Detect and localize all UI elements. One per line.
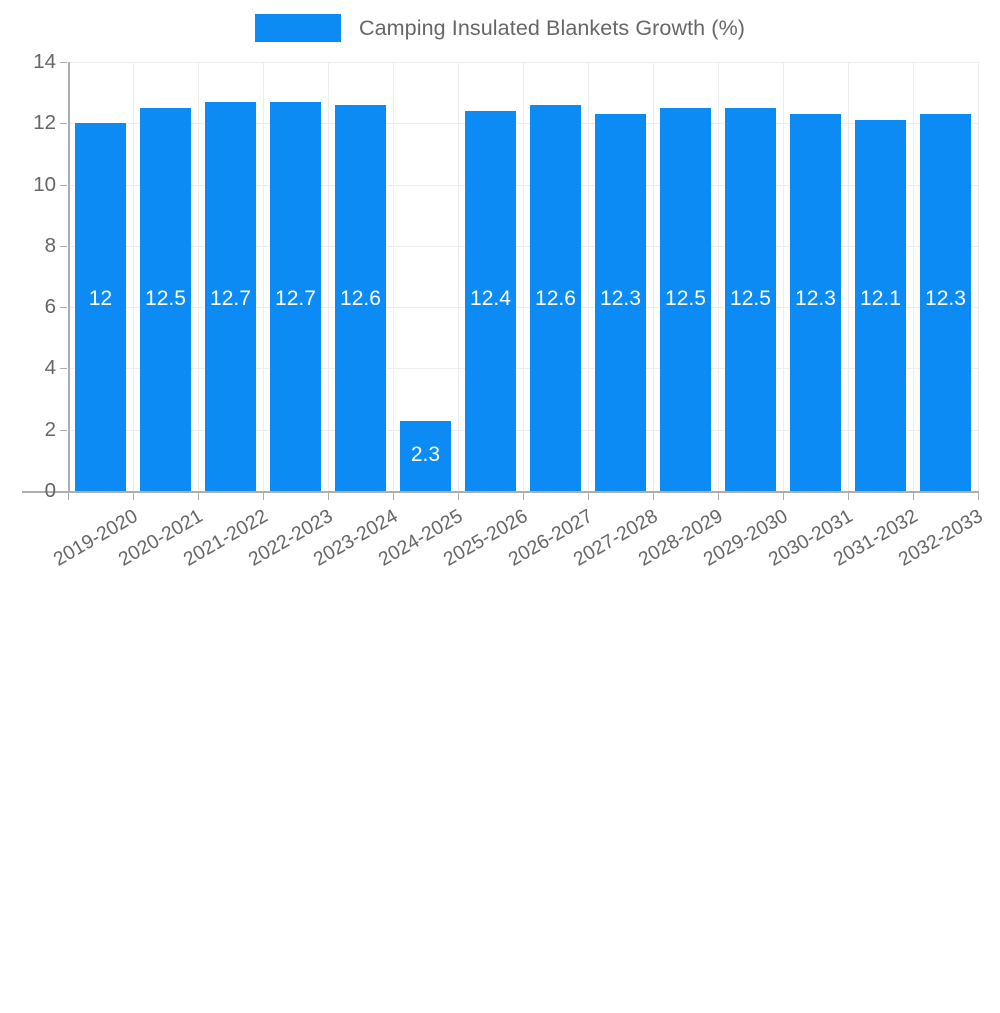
- bar-value-label: 12.3: [790, 287, 841, 311]
- x-axis-tick-mark: [328, 491, 329, 500]
- x-axis-tick-mark: [848, 491, 849, 500]
- x-axis-tick-mark: [393, 491, 394, 500]
- bar-value-label: 12.1: [855, 287, 906, 311]
- bar-value-label: 12.4: [465, 287, 516, 311]
- legend-item-series[interactable]: Camping Insulated Blankets Growth (%): [255, 14, 745, 42]
- x-axis-tick-mark: [913, 491, 914, 500]
- x-axis-tick-mark: [198, 491, 199, 500]
- y-axis-tick-mark: [60, 430, 67, 431]
- x-axis-tick-mark: [588, 491, 589, 500]
- y-axis-tick-mark: [60, 307, 67, 308]
- legend-color-swatch: [255, 14, 341, 42]
- y-axis-tick-label: 12: [16, 111, 56, 135]
- y-axis-tick-mark: [60, 368, 67, 369]
- bar-chart: Camping Insulated Blankets Growth (%) 02…: [0, 0, 1000, 600]
- bars-container: 1212.512.712.712.62.312.412.612.312.512.…: [68, 62, 978, 491]
- bar-value-label: 12.7: [205, 287, 256, 311]
- y-axis-tick-mark: [60, 185, 67, 186]
- y-axis-tick-label: 4: [16, 356, 56, 380]
- x-axis-tick-mark: [133, 491, 134, 500]
- y-axis-tick-mark: [60, 62, 67, 63]
- bar-value-label: 12.6: [530, 287, 581, 311]
- x-axis-tick-mark: [68, 491, 69, 500]
- y-axis-tick-label: 8: [16, 234, 56, 258]
- bar-value-label: 12.7: [270, 287, 321, 311]
- x-axis-tick-mark: [718, 491, 719, 500]
- x-axis-tick-mark: [783, 491, 784, 500]
- y-axis-tick-label: 6: [16, 295, 56, 319]
- bar-value-label: 12: [75, 287, 126, 311]
- bar-value-label: 2.3: [400, 443, 451, 467]
- x-axis-tick-mark: [523, 491, 524, 500]
- x-axis-tick-mark: [978, 491, 979, 500]
- y-axis-tick-label: 2: [16, 418, 56, 442]
- gridline-vertical: [978, 62, 979, 491]
- chart-legend: Camping Insulated Blankets Growth (%): [0, 0, 1000, 56]
- bar-value-label: 12.3: [920, 287, 971, 311]
- y-axis-tick-mark: [60, 123, 67, 124]
- x-axis-tick-mark: [458, 491, 459, 500]
- bar-value-label: 12.5: [660, 287, 711, 311]
- legend-label: Camping Insulated Blankets Growth (%): [359, 16, 745, 41]
- y-axis-tick-label: 10: [16, 173, 56, 197]
- bar-value-label: 12.3: [595, 287, 646, 311]
- bar-value-label: 12.5: [725, 287, 776, 311]
- x-axis-line: [22, 491, 978, 493]
- bar-value-label: 12.5: [140, 287, 191, 311]
- x-axis-tick-mark: [263, 491, 264, 500]
- x-axis-tick-mark: [653, 491, 654, 500]
- y-axis-tick-mark: [60, 246, 67, 247]
- bar-value-label: 12.6: [335, 287, 386, 311]
